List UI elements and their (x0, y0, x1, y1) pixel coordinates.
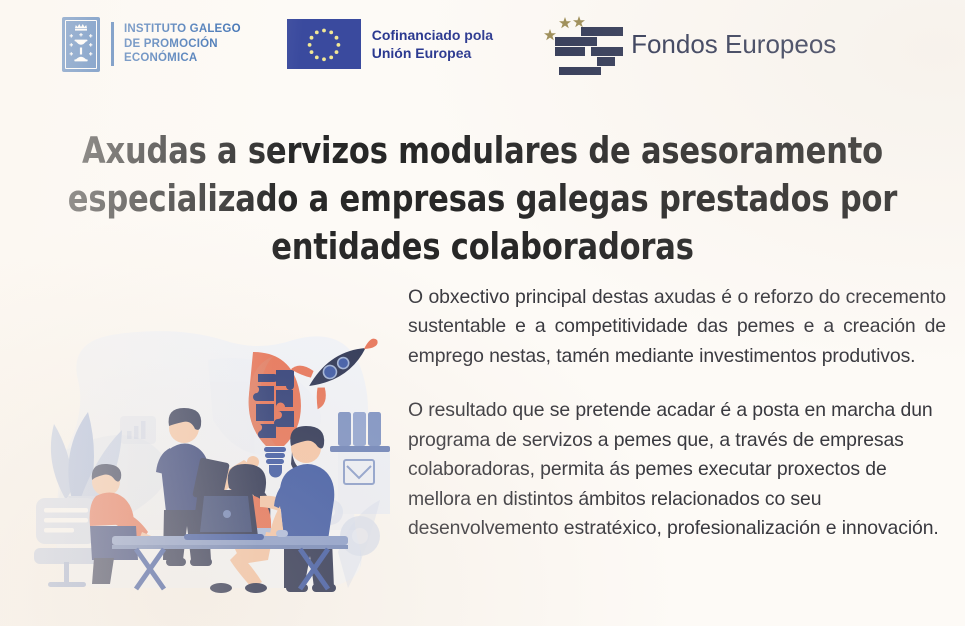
wall-chart-icon (120, 416, 156, 444)
shelf-with-binders (330, 412, 390, 514)
desk-object (276, 530, 288, 537)
logo-fondos-europeos: Fondos Europeos (535, 13, 836, 75)
eu-flag-icon (287, 19, 361, 69)
xunta-coat-of-arms-icon (62, 17, 100, 72)
team-collaboration-illustration (8, 300, 398, 620)
logo-european-union: Cofinanciado pola Unión Europea (287, 19, 493, 69)
body-text-column: O obxectivo principal destas axudas é o … (408, 283, 946, 544)
paragraph-result: O resultado que se pretende acadar é a p… (408, 396, 946, 543)
fondos-europeos-emblem-icon (535, 13, 623, 75)
logo-igape: INSTITUTO GALEGO DE PROMOCIÓN ECONÓMICA (62, 17, 241, 72)
logo-eu-label: Cofinanciado pola Unión Europea (372, 26, 493, 62)
page-title: Axudas a servizos modulares de asesorame… (62, 127, 904, 270)
logo-igape-label: INSTITUTO GALEGO DE PROMOCIÓN ECONÓMICA (124, 22, 241, 66)
logo-fondos-label: Fondos Europeos (631, 31, 836, 57)
header-logo-bar: INSTITUTO GALEGO DE PROMOCIÓN ECONÓMICA (0, 0, 965, 88)
logo-divider (111, 22, 114, 66)
paragraph-objective: O obxectivo principal destas axudas é o … (408, 283, 946, 371)
